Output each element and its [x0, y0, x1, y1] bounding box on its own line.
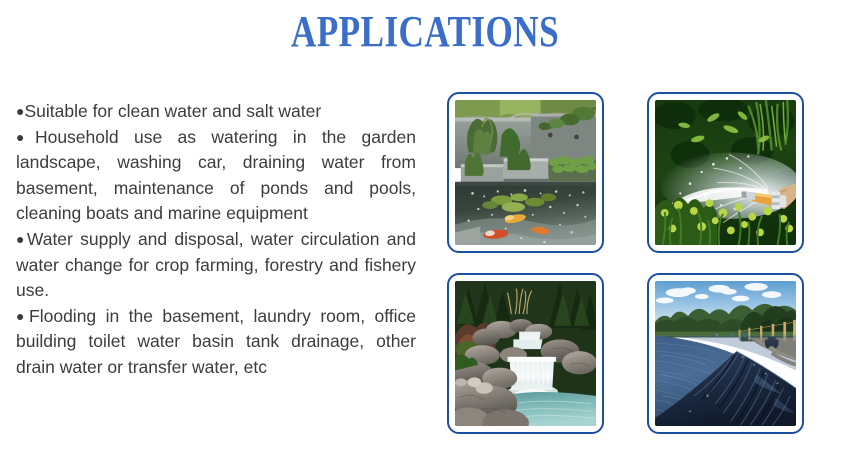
- bullet-paragraph-4: ●Flooding in the basement, laundry room,…: [16, 304, 416, 381]
- bullet-icon: ●: [16, 129, 35, 145]
- bullet-paragraph-4-text: Flooding in the basement, laundry room, …: [16, 306, 416, 377]
- applications-page: APPLICATIONS ●Suitable for clean water a…: [0, 0, 850, 464]
- photo-rock-waterfall: [455, 281, 596, 426]
- applications-text-block: ●Suitable for clean water and salt water…: [16, 99, 416, 381]
- bullet-paragraph-2: ●Household use as watering in the garden…: [16, 125, 416, 227]
- photo-frame-rock-waterfall: [447, 273, 604, 434]
- photo-frame-koi-pond: [447, 92, 604, 253]
- bullet-paragraph-3: ●Water supply and disposal, water circul…: [16, 227, 416, 304]
- bullet-paragraph-3-text: Water supply and disposal, water circula…: [16, 229, 416, 300]
- bullet-paragraph-2-text: Household use as watering in the garden …: [16, 127, 416, 224]
- bullet-icon: ●: [16, 308, 29, 324]
- photo-frame-garden-sprinkler: [647, 92, 804, 253]
- bullet-paragraph-1-text: Suitable for clean water and salt water: [24, 101, 321, 121]
- bullet-icon: ●: [16, 231, 27, 247]
- application-photo-grid: [447, 92, 807, 435]
- photo-koi-pond: [455, 100, 596, 245]
- photo-lined-reservoir: [655, 281, 796, 426]
- photo-frame-lined-reservoir: [647, 273, 804, 434]
- bullet-paragraph-1: ●Suitable for clean water and salt water: [16, 99, 416, 125]
- photo-garden-sprinkler: [655, 100, 796, 245]
- page-title: APPLICATIONS: [85, 9, 765, 55]
